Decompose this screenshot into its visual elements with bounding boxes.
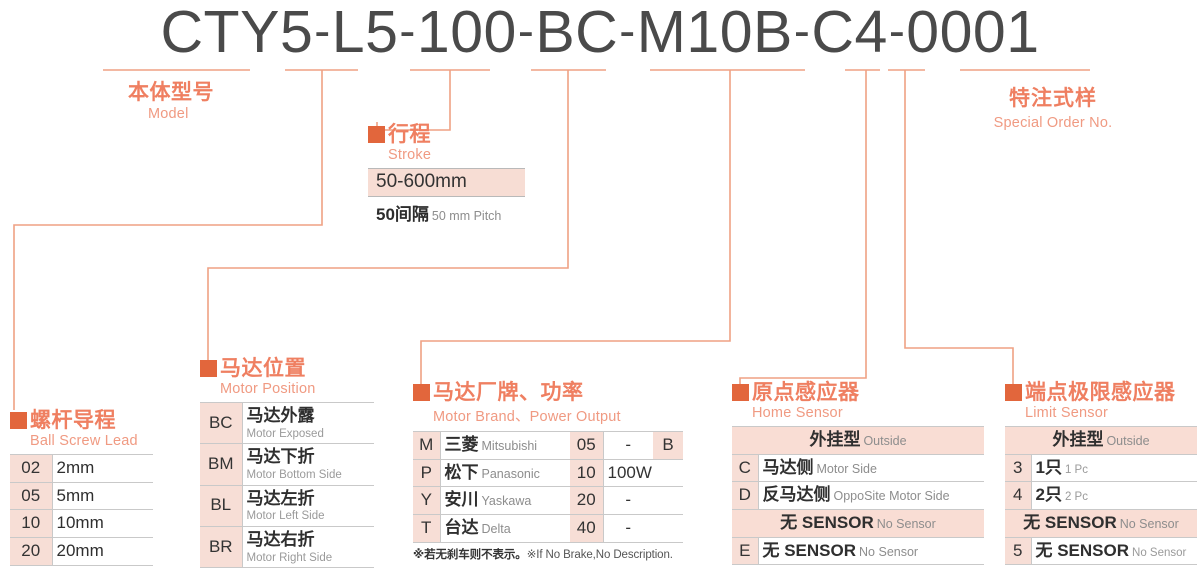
code-segment-motor-brand: M10B xyxy=(637,0,793,65)
limit-sensor-header-en: Outside xyxy=(1103,434,1149,448)
home-sensor-cn: 无 SENSOR xyxy=(763,541,857,560)
group-motor-position: 马达位置 Motor Position BC 马达外露 Motor Expose… xyxy=(200,358,374,568)
stroke-title-en: Stroke xyxy=(388,147,525,163)
stroke-pitch-cn: 50间隔 xyxy=(376,205,429,224)
power-value: - xyxy=(603,432,653,460)
stroke-pitch: 50间隔50 mm Pitch xyxy=(368,197,525,225)
brand-cn: 三菱 xyxy=(445,435,479,454)
stroke-pitch-en: 50 mm Pitch xyxy=(429,209,501,223)
limit-sensor-cn: 无 SENSOR xyxy=(1036,541,1130,560)
motor-position-code: BM xyxy=(200,444,242,485)
brake-code xyxy=(653,514,683,542)
lead-value: 20mm xyxy=(57,541,104,560)
home-sensor-code: E xyxy=(732,537,758,565)
motor-brand-note-cn: ※若无刹车则不表示。 xyxy=(413,549,527,561)
table-row[interactable]: T 台达Delta 40 - xyxy=(413,514,683,542)
limit-sensor-code: 3 xyxy=(1005,454,1031,482)
table-row[interactable]: P 松下Panasonic 10 100W xyxy=(413,459,683,487)
limit-sensor-title-cn: 端点极限感应器 xyxy=(1025,382,1176,403)
square-bullet-icon xyxy=(413,384,430,401)
motor-brand-title-en: Motor Brand、Power Output xyxy=(433,405,683,426)
model-title-en: Model xyxy=(148,106,214,122)
lead-value: 10mm xyxy=(57,513,104,532)
home-sensor-en: OppoSite Motor Side xyxy=(831,489,950,503)
table-row[interactable]: 3 1只1 Pc xyxy=(1005,454,1197,482)
table-row: 外挂型Outside xyxy=(1005,427,1197,455)
group-motor-brand-power: 马达厂牌、功率 Motor Brand、Power Output M 三菱Mit… xyxy=(413,382,683,562)
code-segment-special-order: 0001 xyxy=(906,0,1039,65)
power-value: - xyxy=(603,514,653,542)
code-dash: - xyxy=(517,5,535,58)
table-row[interactable]: 05 5mm xyxy=(10,482,153,510)
limit-sensor-header-cn: 外挂型 xyxy=(1052,430,1103,449)
brand-en: Delta xyxy=(479,522,511,536)
special-order-title-en: Special Order No. xyxy=(963,115,1143,131)
power-value: 100W xyxy=(603,459,653,487)
home-sensor-title-cn: 原点感应器 xyxy=(752,382,860,403)
code-segment-motor-position: BC xyxy=(535,0,618,65)
code-segment-stroke: 100 xyxy=(417,0,517,65)
motor-position-table: BC 马达外露 Motor Exposed BM 马达下折 Motor Bott… xyxy=(200,402,374,568)
limit-sensor-en: No Sensor xyxy=(1129,547,1186,559)
motor-position-code: BC xyxy=(200,403,242,444)
code-dash: - xyxy=(398,5,416,58)
stroke-title-cn: 行程 xyxy=(388,124,431,145)
power-value: - xyxy=(603,487,653,515)
limit-sensor-code: 5 xyxy=(1005,537,1031,565)
table-row[interactable]: BC 马达外露 Motor Exposed xyxy=(200,403,374,444)
table-row: 无 SENSORNo Sensor xyxy=(1005,509,1197,537)
limit-sensor-en: 2 Pc xyxy=(1062,491,1088,503)
lead-value: 5mm xyxy=(57,486,95,505)
limit-sensor-header-cn: 无 SENSOR xyxy=(1023,513,1117,532)
motor-position-code: BL xyxy=(200,485,242,526)
home-sensor-code: C xyxy=(732,454,758,482)
home-sensor-code: D xyxy=(732,482,758,510)
square-bullet-icon xyxy=(200,360,217,377)
code-dash: - xyxy=(618,5,636,58)
motor-brand-title-cn: 马达厂牌、功率 xyxy=(433,382,584,403)
brand-cn: 安川 xyxy=(445,490,479,509)
brake-code: B xyxy=(653,432,683,460)
lead-code: 20 xyxy=(10,537,52,565)
limit-sensor-table: 外挂型Outside 3 1只1 Pc 4 2只2 Pc 无 SENSORNo … xyxy=(1005,426,1197,565)
motor-position-code: BR xyxy=(200,526,242,567)
code-segment-model: CTY5 xyxy=(160,0,313,65)
table-row[interactable]: 5 无 SENSORNo Sensor xyxy=(1005,537,1197,565)
group-model: 本体型号 Model xyxy=(128,82,214,122)
stroke-range-value: 50-600mm xyxy=(368,168,525,197)
brake-code xyxy=(653,487,683,515)
ball-screw-lead-title-cn: 螺杆导程 xyxy=(30,410,116,431)
brand-cn: 松下 xyxy=(445,463,479,482)
lead-code: 02 xyxy=(10,455,52,483)
limit-sensor-header-en: No Sensor xyxy=(1117,517,1179,531)
group-stroke: 行程 Stroke 50-600mm 50间隔50 mm Pitch xyxy=(368,124,525,225)
table-row[interactable]: BL 马达左折 Motor Left Side xyxy=(200,485,374,526)
table-row[interactable]: Y 安川Yaskawa 20 - xyxy=(413,487,683,515)
limit-sensor-code: 4 xyxy=(1005,482,1031,510)
motor-position-title-en: Motor Position xyxy=(220,381,374,397)
group-home-sensor: 原点感应器 Home Sensor 外挂型Outside C 马达侧Motor … xyxy=(732,382,984,565)
home-sensor-table: 外挂型Outside C 马达侧Motor Side D 反马达侧OppoSit… xyxy=(732,426,984,565)
home-sensor-en: No Sensor xyxy=(856,545,918,559)
limit-sensor-cn: 2只 xyxy=(1036,485,1062,504)
square-bullet-icon xyxy=(368,126,385,143)
power-code: 40 xyxy=(570,514,603,542)
home-sensor-title-en: Home Sensor xyxy=(752,405,984,421)
home-sensor-cn: 马达侧 xyxy=(763,458,814,477)
table-row[interactable]: E 无 SENSORNo Sensor xyxy=(732,537,984,565)
product-code: CTY5-L5-100-BC-M10B-C4-0001 xyxy=(0,0,1200,66)
lead-value: 2mm xyxy=(57,458,95,477)
table-row[interactable]: 02 2mm xyxy=(10,455,153,483)
motor-position-en: Motor Exposed xyxy=(247,426,371,443)
brand-en: Yaskawa xyxy=(479,494,532,508)
brand-en: Mitsubishi xyxy=(479,439,538,453)
square-bullet-icon xyxy=(10,412,27,429)
motor-brand-note-en: ※If No Brake,No Description. xyxy=(527,549,673,561)
limit-sensor-en: 1 Pc xyxy=(1062,464,1088,476)
table-row[interactable]: C 马达侧Motor Side xyxy=(732,454,984,482)
ball-screw-lead-title-en: Ball Screw Lead xyxy=(30,433,153,449)
ball-screw-lead-table: 02 2mm 05 5mm 10 10mm 20 20mm xyxy=(10,454,153,566)
code-dash: - xyxy=(793,5,811,58)
code-dash: - xyxy=(888,5,906,58)
code-segment-lead: L5 xyxy=(332,0,399,65)
group-ball-screw-lead: 螺杆导程 Ball Screw Lead 02 2mm 05 5mm 10 10… xyxy=(10,410,153,566)
home-sensor-en: Motor Side xyxy=(814,462,877,476)
table-row[interactable]: D 反马达侧OppoSite Motor Side xyxy=(732,482,984,510)
brand-en: Panasonic xyxy=(479,467,540,481)
lead-code: 10 xyxy=(10,510,52,538)
home-sensor-header-en: Outside xyxy=(860,434,906,448)
code-segment-sensors: C4 xyxy=(811,0,887,65)
lead-code: 05 xyxy=(10,482,52,510)
model-title-cn: 本体型号 xyxy=(128,82,214,103)
limit-sensor-cn: 1只 xyxy=(1036,458,1062,477)
brand-code: M xyxy=(413,432,440,460)
table-row: 外挂型Outside xyxy=(732,427,984,455)
table-row[interactable]: BR 马达右折 Motor Right Side xyxy=(200,526,374,567)
motor-position-en: Motor Left Side xyxy=(247,508,371,525)
home-sensor-header-en: No Sensor xyxy=(874,517,936,531)
group-limit-sensor: 端点极限感应器 Limit Sensor 外挂型Outside 3 1只1 Pc… xyxy=(1005,382,1197,565)
table-row[interactable]: BM 马达下折 Motor Bottom Side xyxy=(200,444,374,485)
motor-brand-table: M 三菱Mitsubishi 05 - B P 松下Panasonic 10 1… xyxy=(413,431,683,543)
power-code: 20 xyxy=(570,487,603,515)
brake-code xyxy=(653,459,683,487)
brand-cn: 台达 xyxy=(445,518,479,537)
special-order-title-cn: 特注式样 xyxy=(963,82,1143,112)
motor-position-en: Motor Right Side xyxy=(247,550,371,567)
square-bullet-icon xyxy=(1005,384,1022,401)
home-sensor-cn: 反马达侧 xyxy=(763,485,831,504)
power-code: 05 xyxy=(570,432,603,460)
group-special-order: 特注式样 Special Order No. xyxy=(963,82,1143,131)
power-code: 10 xyxy=(570,459,603,487)
home-sensor-header-cn: 外挂型 xyxy=(809,430,860,449)
motor-position-title-cn: 马达位置 xyxy=(220,358,306,379)
code-dash: - xyxy=(313,5,331,58)
table-row[interactable]: M 三菱Mitsubishi 05 - B xyxy=(413,432,683,460)
brand-code: T xyxy=(413,514,440,542)
brand-code: P xyxy=(413,459,440,487)
motor-brand-note: ※若无刹车则不表示。※If No Brake,No Description. xyxy=(413,546,683,562)
table-row[interactable]: 10 10mm xyxy=(10,510,153,538)
part-number-breakdown-diagram: CTY5-L5-100-BC-M10B-C4-0001 本体型号 Model 行… xyxy=(0,0,1200,575)
table-row[interactable]: 4 2只2 Pc xyxy=(1005,482,1197,510)
square-bullet-icon xyxy=(732,384,749,401)
brand-code: Y xyxy=(413,487,440,515)
motor-position-en: Motor Bottom Side xyxy=(247,467,371,484)
table-row[interactable]: 20 20mm xyxy=(10,537,153,565)
table-row: 无 SENSORNo Sensor xyxy=(732,509,984,537)
limit-sensor-title-en: Limit Sensor xyxy=(1025,405,1197,421)
home-sensor-header-cn: 无 SENSOR xyxy=(780,513,874,532)
